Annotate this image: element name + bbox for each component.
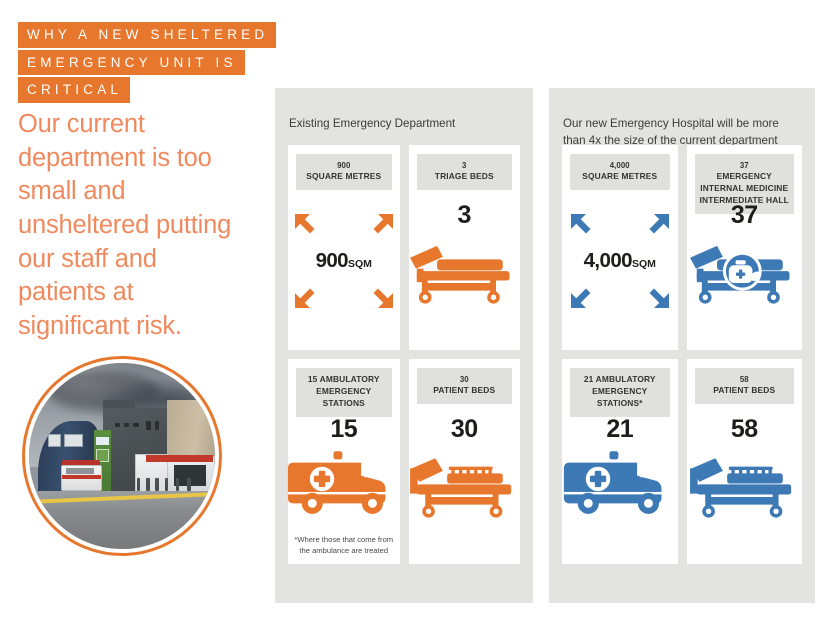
stat-card: 30PATIENT BEDS30 [409, 359, 521, 564]
ambulance-icon [559, 448, 681, 523]
stat-card-value: 900SQM [288, 249, 400, 273]
stat-card-label-number: 37 [697, 160, 793, 171]
facility-photo-frame [22, 356, 222, 556]
stat-card-label-text: TRIAGE BEDS [419, 171, 511, 183]
stat-card-body: 900SQM [288, 203, 400, 350]
stat-card-label-text: PATIENT BEDS [419, 385, 511, 397]
stat-card-value: 58 [731, 417, 758, 442]
stat-card-label-number: 30 [419, 374, 511, 385]
stat-card-label-number: 58 [697, 374, 793, 385]
stat-card-label: 21 AMBULATORY EMERGENCY STATIONS* [570, 368, 670, 417]
stat-card-footnote: *Where those that come from the ambulanc… [294, 534, 394, 556]
patient-bed-icon [685, 448, 803, 524]
stat-card-label-text: PATIENT BEDS [697, 385, 793, 397]
stat-card: 4,000SQUARE METRES4,000SQM [562, 145, 678, 350]
intro-paragraph: Our current department is too small and … [18, 108, 248, 344]
left-column: WHY A NEW SHELTERED EMERGENCY UNIT IS CR… [0, 0, 270, 621]
stat-card-value: 21 [606, 417, 633, 442]
card-grid-existing: 900SQUARE METRES900SQM3TRIAGE BEDS315 AM… [288, 145, 520, 564]
stat-card-label: 15 AMBULATORY EMERGENCY STATIONS [296, 368, 392, 417]
stat-card-body: 3 [409, 203, 521, 350]
ambulance-icon [283, 448, 405, 523]
stat-card-label-number: 4,000 [572, 160, 668, 171]
facility-photo [29, 363, 215, 549]
stat-card-label-number: 3 [419, 160, 511, 171]
stretcher-medicine-icon [685, 234, 803, 310]
stat-card-label-text: 21 AMBULATORY EMERGENCY STATIONS* [572, 374, 668, 410]
expand-arrows-icon: 900SQM [288, 207, 400, 315]
stat-card-body: 37 [687, 203, 803, 350]
panel-title-existing: Existing Emergency Department [289, 116, 521, 133]
headline-banner: WHY A NEW SHELTERED EMERGENCY UNIT IS CR… [18, 22, 262, 105]
stat-card: 37EMERGENCY INTERNAL MEDICINE INTERMEDIA… [687, 145, 803, 350]
stat-card-label-text: SQUARE METRES [298, 171, 390, 183]
stat-card-body: 58 [687, 417, 803, 564]
stat-card: 3TRIAGE BEDS3 [409, 145, 521, 350]
patient-bed-icon [405, 448, 523, 524]
stat-card-label-text: SQUARE METRES [572, 171, 668, 183]
panel-new-hospital: Our new Emergency Hospital will be more … [549, 88, 815, 603]
headline-line-1: WHY A NEW SHELTERED [18, 22, 276, 48]
stat-card: 58PATIENT BEDS58 [687, 359, 803, 564]
stat-card-unit: SQM [632, 258, 656, 270]
stat-card-label-text: 15 AMBULATORY EMERGENCY STATIONS [298, 374, 390, 410]
expand-arrows-icon: 4,000SQM [564, 207, 676, 315]
stat-card-unit: SQM [348, 258, 372, 270]
stat-card-body: 30 [409, 417, 521, 564]
stat-card-label-number: 900 [298, 160, 390, 171]
stat-card: 21 AMBULATORY EMERGENCY STATIONS*21 [562, 359, 678, 564]
stat-card-value: 15 [330, 417, 357, 442]
stretcher-icon [405, 234, 523, 310]
stat-card-label: 58PATIENT BEDS [695, 368, 795, 404]
stat-card-value: 30 [451, 417, 478, 442]
stat-card-value: 4,000SQM [564, 249, 676, 273]
stat-card: 900SQUARE METRES900SQM [288, 145, 400, 350]
headline-line-3: CRITICAL [18, 77, 130, 103]
stat-card-label: 900SQUARE METRES [296, 154, 392, 190]
headline-line-2: EMERGENCY UNIT IS [18, 50, 245, 76]
stat-card-label: 3TRIAGE BEDS [417, 154, 513, 190]
stat-card-body: 4,000SQM [562, 203, 678, 350]
stat-card-body: 21 [562, 417, 678, 564]
stat-card-label: 30PATIENT BEDS [417, 368, 513, 404]
stat-card: 15 AMBULATORY EMERGENCY STATIONS15*Where… [288, 359, 400, 564]
panel-existing-department: Existing Emergency Department 900SQUARE … [275, 88, 533, 603]
stat-card-value: 37 [731, 203, 758, 228]
stat-card-value: 3 [458, 203, 471, 228]
card-grid-new: 4,000SQUARE METRES4,000SQM37EMERGENCY IN… [562, 145, 802, 564]
stat-card-label: 4,000SQUARE METRES [570, 154, 670, 190]
